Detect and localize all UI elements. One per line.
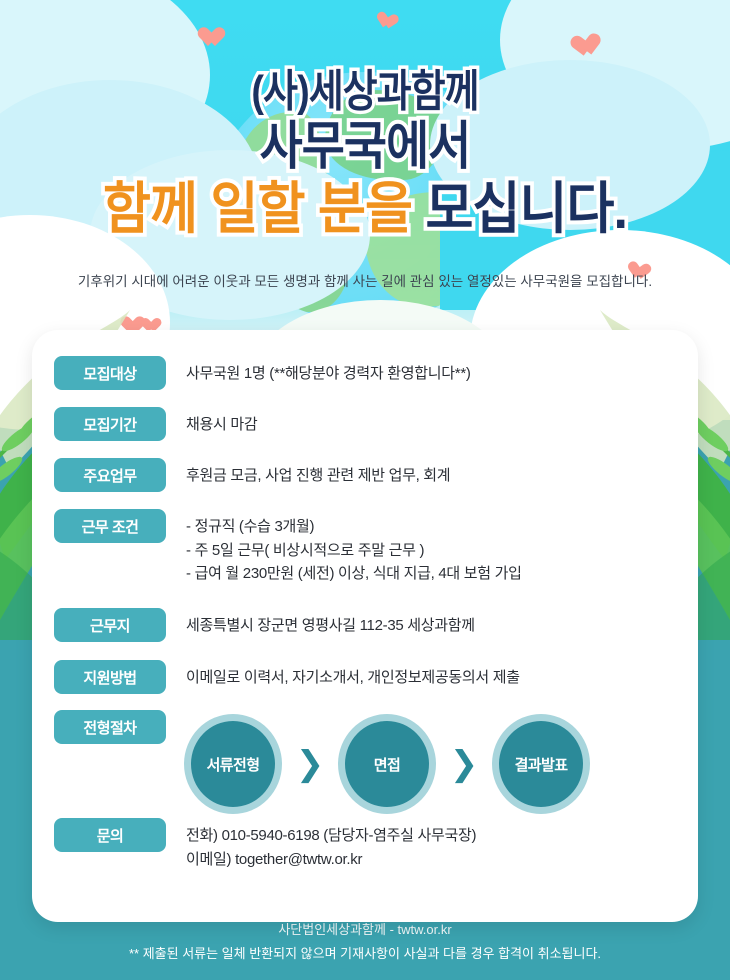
detail-row-모집대상: 모집대상 사무국원 1명 (**해당분야 경력자 환영합니다**) [54, 356, 471, 390]
chevron-right-icon: ❯ [282, 747, 338, 781]
process-step-1: 서류전형 [184, 714, 282, 814]
row-value: 이메일로 이력서, 자기소개서, 개인정보제공동의서 제출 [186, 660, 520, 690]
detail-row-문의: 문의 전화) 010-5940-6198 (담당자-염주실 사무국장) 이메일)… [54, 818, 476, 871]
headline-line-3-navy: 모십니다. [426, 177, 627, 240]
headline-line-3-orange: 함께 일할 분을 [103, 177, 426, 240]
headline-line-2: 사무국에서 [37, 121, 694, 173]
row-value: 전화) 010-5940-6198 (담당자-염주실 사무국장) 이메일) to… [186, 818, 476, 871]
selection-process-flow: 서류전형 ❯ 면접 ❯ 결과발표 [184, 714, 590, 814]
headline-block: (사)세상과함께 사무국에서 함께 일할 분을 모십니다. [0, 70, 730, 237]
detail-row-근무조건: 근무 조건 - 정규직 (수습 3개월) - 주 5일 근무( 비상시적으로 주… [54, 509, 522, 586]
row-label: 문의 [54, 818, 166, 852]
detail-row-전형절차: 전형절차 [54, 710, 166, 744]
poster-footer: 사단법인세상과함께 - twtw.or.kr ** 제출된 서류는 일체 반환되… [0, 918, 730, 966]
detail-row-근무지: 근무지 세종특별시 장군면 영평사길 112-35 세상과함께 [54, 608, 475, 642]
detail-row-지원방법: 지원방법 이메일로 이력서, 자기소개서, 개인정보제공동의서 제출 [54, 660, 520, 694]
row-label: 모집기간 [54, 407, 166, 441]
row-label: 근무 조건 [54, 509, 166, 543]
row-value: 사무국원 1명 (**해당분야 경력자 환영합니다**) [186, 356, 471, 386]
row-value: 세종특별시 장군면 영평사길 112-35 세상과함께 [186, 608, 475, 638]
headline-line-3: 함께 일할 분을 모십니다. [26, 181, 705, 237]
row-value: 후원금 모금, 사업 진행 관련 제반 업무, 회계 [186, 458, 450, 488]
heart-icon [379, 12, 400, 31]
heart-icon [575, 33, 602, 58]
row-label: 근무지 [54, 608, 166, 642]
recruitment-poster: (사)세상과함께 사무국에서 함께 일할 분을 모십니다. 기후위기 시대에 어… [0, 0, 730, 980]
subtitle: 기후위기 시대에 어려운 이웃과 모든 생명과 함께 사는 길에 관심 있는 열… [0, 272, 730, 293]
headline-line-1: (사)세상과함께 [51, 70, 679, 114]
detail-row-모집기간: 모집기간 채용시 마감 [54, 407, 257, 441]
detail-row-주요업무: 주요업무 후원금 모금, 사업 진행 관련 제반 업무, 회계 [54, 458, 450, 492]
row-label: 모집대상 [54, 356, 166, 390]
details-card: 모집대상 사무국원 1명 (**해당분야 경력자 환영합니다**) 모집기간 채… [32, 330, 698, 922]
footer-notice: ** 제출된 서류는 일체 반환되지 않으며 기재사항이 사실과 다를 경우 합… [0, 942, 730, 966]
row-label: 전형절차 [54, 710, 166, 744]
heart-icon [203, 28, 225, 48]
process-step-3: 결과발표 [492, 714, 590, 814]
process-step-2: 면접 [338, 714, 436, 814]
row-label: 지원방법 [54, 660, 166, 694]
row-value: 채용시 마감 [186, 407, 257, 437]
row-value: - 정규직 (수습 3개월) - 주 5일 근무( 비상시적으로 주말 근무 )… [186, 509, 522, 586]
row-label: 주요업무 [54, 458, 166, 492]
chevron-right-icon: ❯ [436, 747, 492, 781]
